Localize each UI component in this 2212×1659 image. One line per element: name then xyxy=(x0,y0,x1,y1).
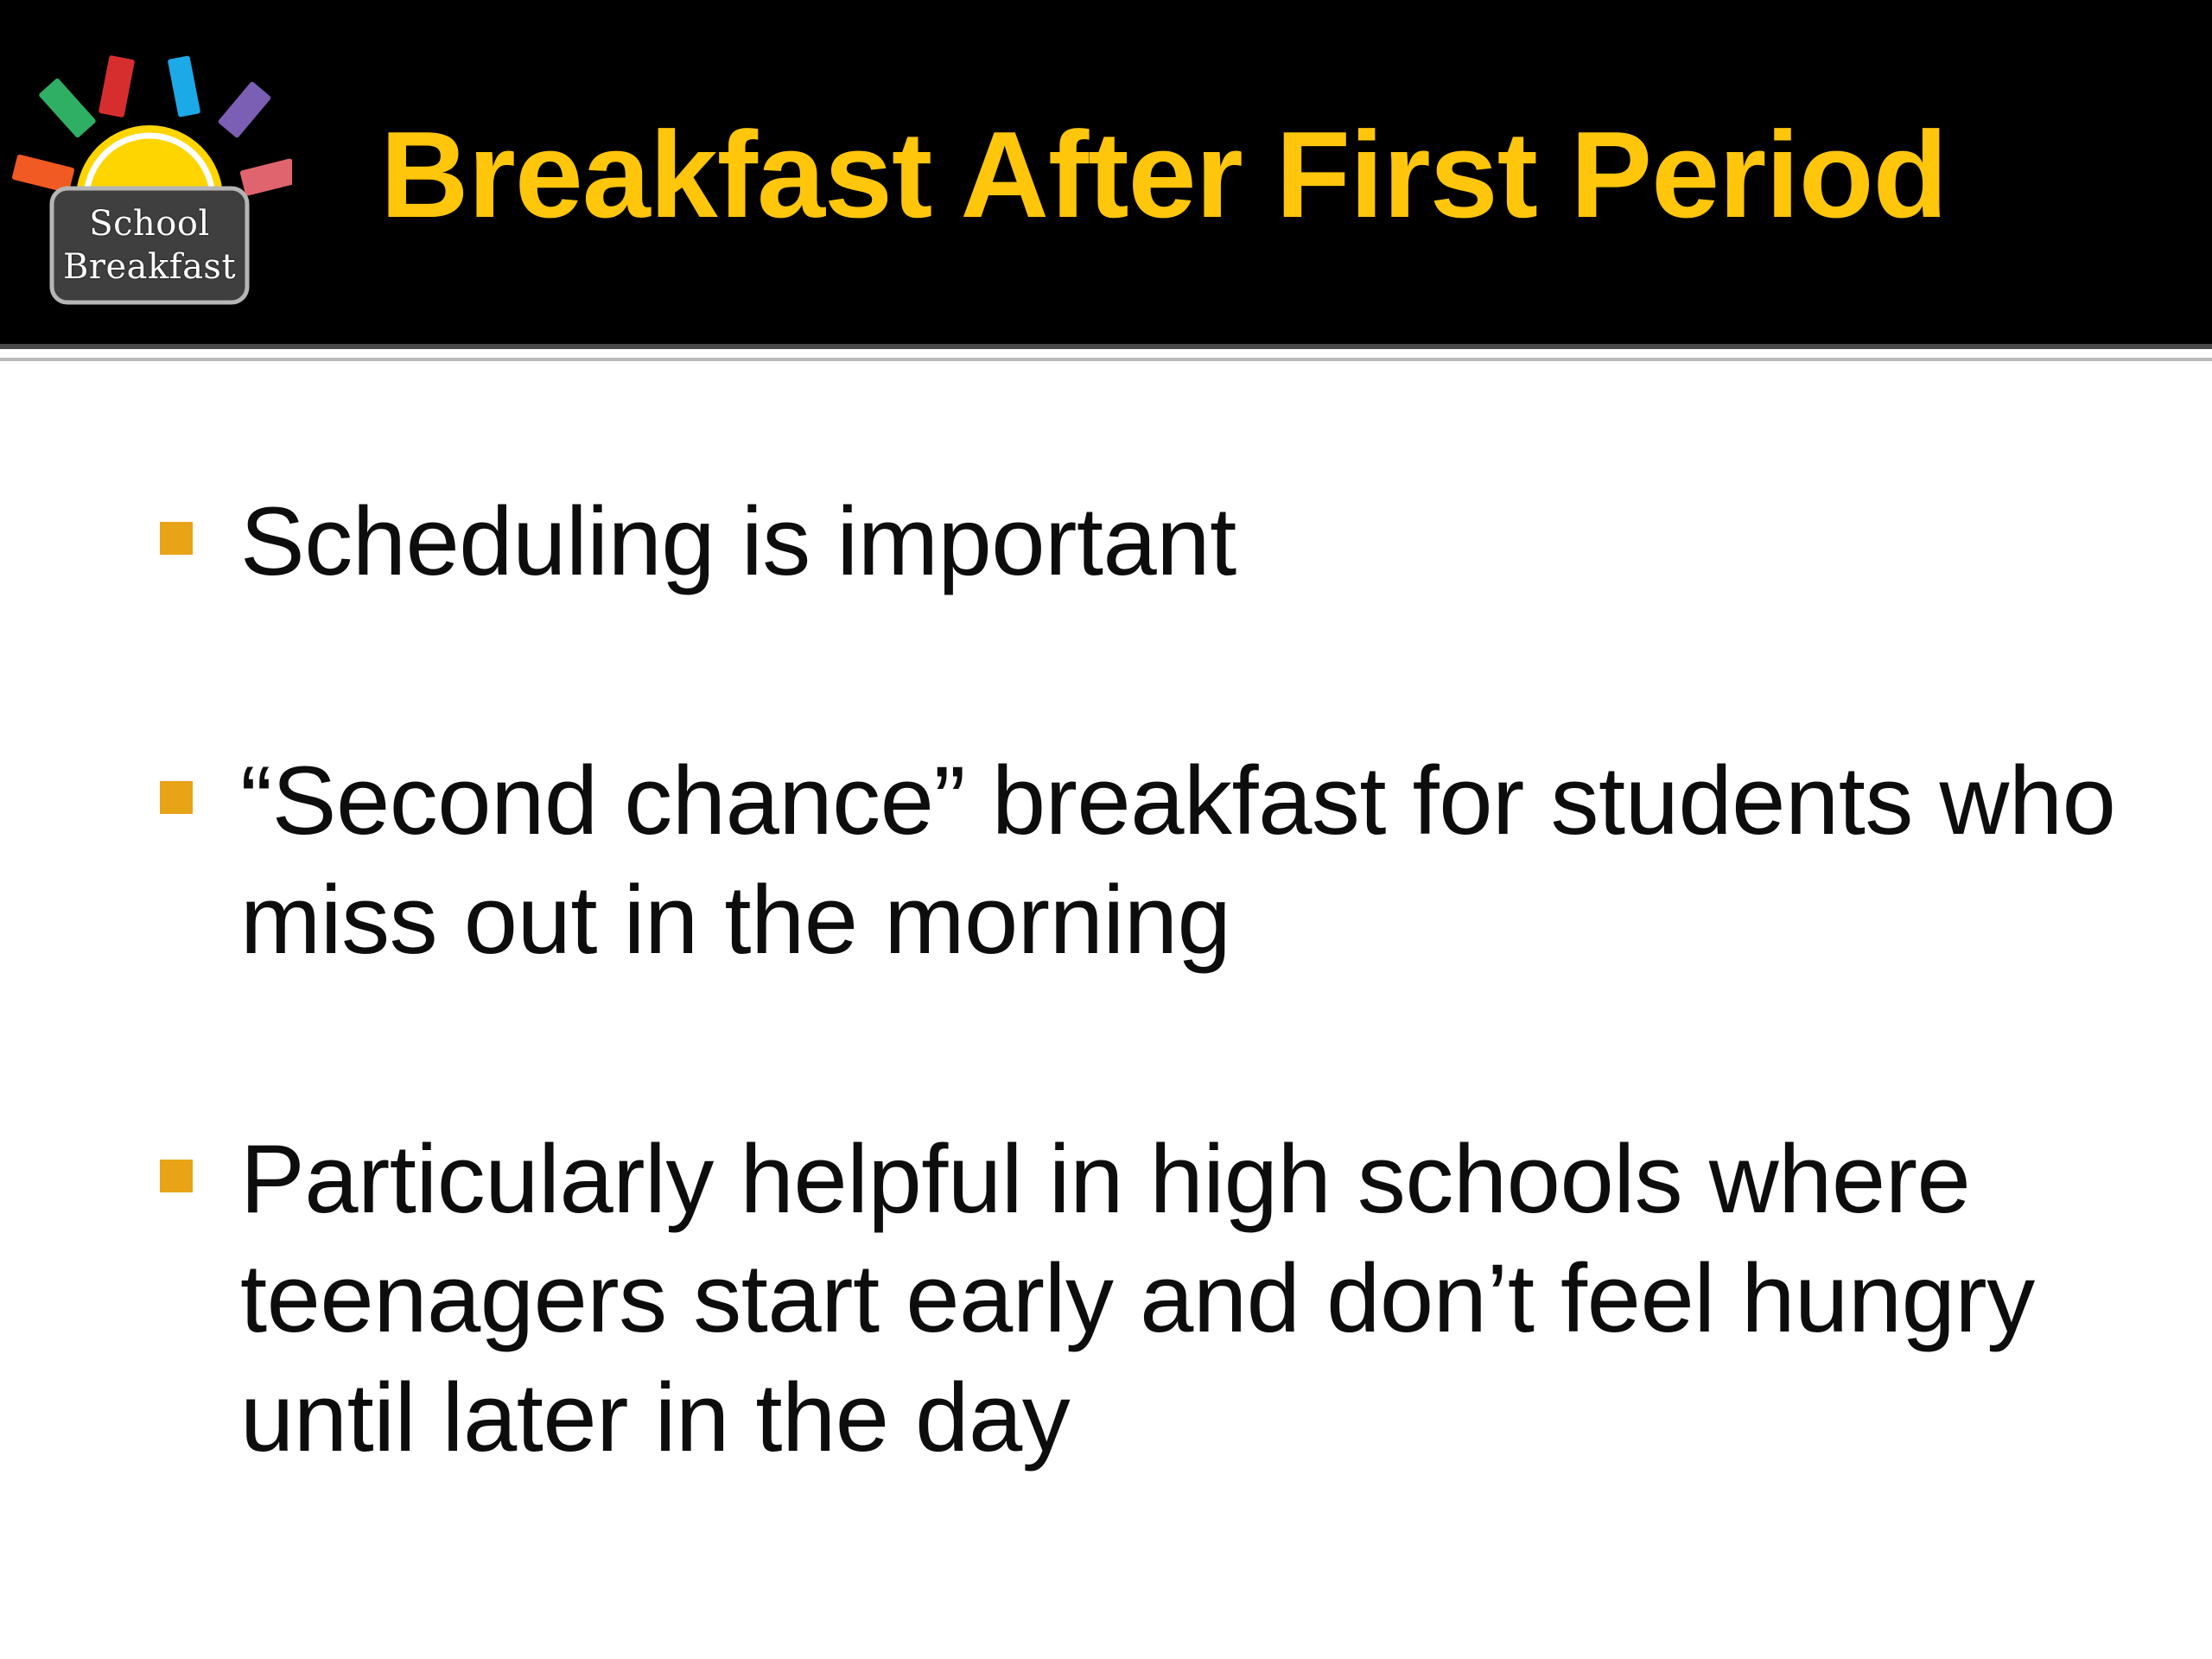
list-item: “Second chance” breakfast for students w… xyxy=(156,741,2143,980)
logo-plaque xyxy=(52,188,247,302)
list-item: Particularly helpful in high schools whe… xyxy=(156,1120,2143,1478)
presentation-slide: School Breakfast Breakfast After First P… xyxy=(0,0,2212,1659)
square-bullet-icon xyxy=(160,1160,193,1192)
page-title: Breakfast After First Period xyxy=(380,111,2108,240)
list-item: Scheduling is important xyxy=(156,482,2143,601)
slide-body: Scheduling is important “Second chance” … xyxy=(156,432,2143,1478)
header-divider-upper xyxy=(0,344,2212,349)
bullet-text: “Second chance” breakfast for students w… xyxy=(240,741,2143,980)
square-bullet-icon xyxy=(160,781,193,814)
school-breakfast-logo xyxy=(7,16,292,318)
bullet-text: Scheduling is important xyxy=(240,482,2143,601)
header-divider-lower xyxy=(0,358,2212,361)
square-bullet-icon xyxy=(160,522,193,555)
bullet-text: Particularly helpful in high schools whe… xyxy=(240,1120,2143,1478)
